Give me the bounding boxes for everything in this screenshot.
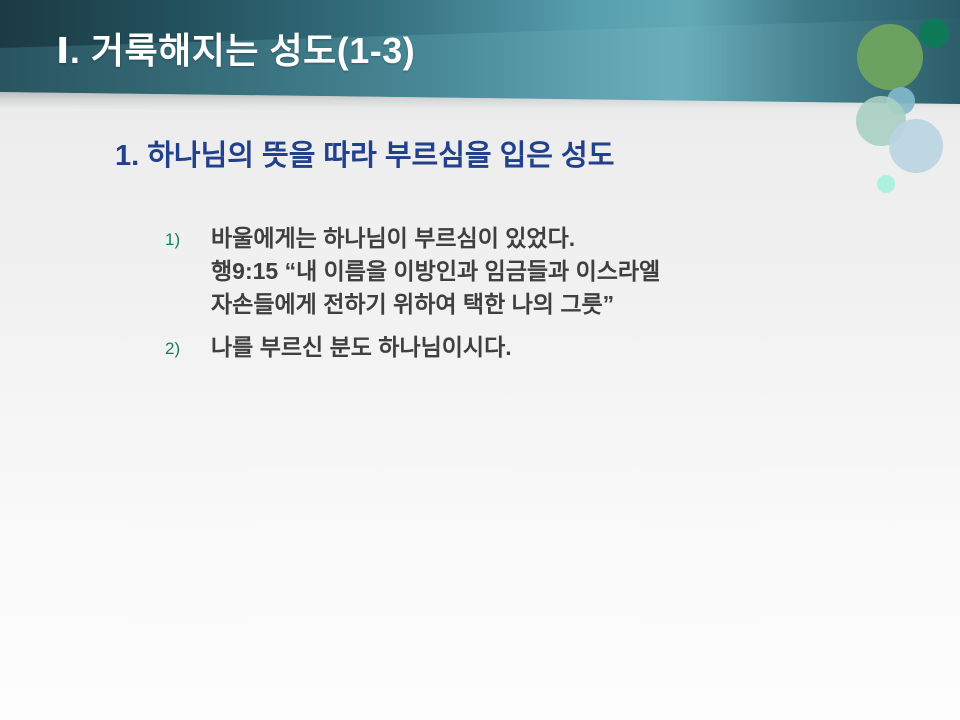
list-item-line: 행9:15 “내 이름을 이방인과 임금들과 이스라엘 bbox=[211, 255, 960, 288]
decor-circle-mint-tiny bbox=[877, 175, 895, 193]
list-item-body: 바울에게는 하나님이 부르심이 있었다. 행9:15 “내 이름을 이방인과 임… bbox=[211, 222, 960, 321]
list-item-line: 나를 부르신 분도 하나님이시다. bbox=[211, 331, 960, 364]
list-item-marker: 1) bbox=[165, 222, 211, 256]
list-item-line: 자손들에게 전하기 위하여 택한 나의 그릇” bbox=[211, 288, 960, 321]
slide-canvas: Ⅰ. 거룩해지는 성도(1-3) 1. 하나님의 뜻을 따라 부르심을 입은 성… bbox=[0, 0, 960, 720]
list-item-line: 바울에게는 하나님이 부르심이 있었다. bbox=[211, 222, 960, 255]
list-item: 1) 바울에게는 하나님이 부르심이 있었다. 행9:15 “내 이름을 이방인… bbox=[0, 222, 960, 321]
list-item: 2) 나를 부르신 분도 하나님이시다. bbox=[0, 331, 960, 365]
list-item-marker: 2) bbox=[165, 331, 211, 365]
decor-circle-blue-pale-large bbox=[889, 119, 943, 173]
slide-title: Ⅰ. 거룩해지는 성도(1-3) bbox=[56, 22, 856, 74]
list-item-body: 나를 부르신 분도 하나님이시다. bbox=[211, 331, 960, 364]
